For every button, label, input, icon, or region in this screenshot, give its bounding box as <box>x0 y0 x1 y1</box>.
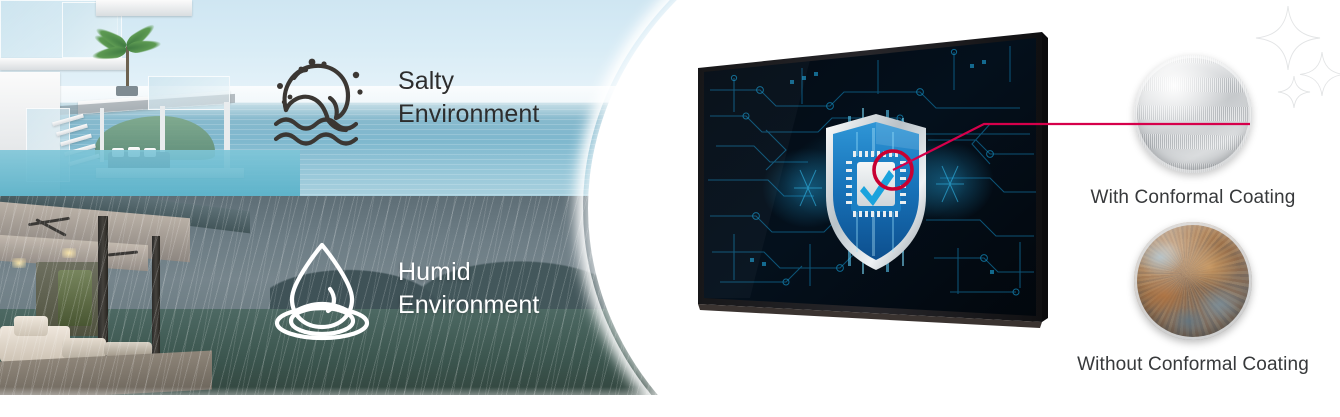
banner-root: Salty Environment Humid Environment <box>0 0 1340 417</box>
salty-environment-label: Salty Environment <box>398 65 539 131</box>
water-droplet-ripple-icon <box>268 237 376 341</box>
callout-line <box>690 20 1250 360</box>
villa-eave <box>96 0 192 16</box>
salty-environment-item: Salty Environment <box>268 48 539 148</box>
humid-environment-item: Humid Environment <box>268 237 539 341</box>
humid-environment-label: Humid Environment <box>398 256 539 322</box>
wave-splash-icon <box>268 48 376 148</box>
bottom-white-fade <box>0 387 700 417</box>
planter <box>116 86 138 96</box>
infinity-pool <box>0 150 300 196</box>
callout-leader-line <box>893 124 1250 170</box>
villa-glass-balcony <box>148 76 230 110</box>
palm-trunk <box>126 46 129 88</box>
